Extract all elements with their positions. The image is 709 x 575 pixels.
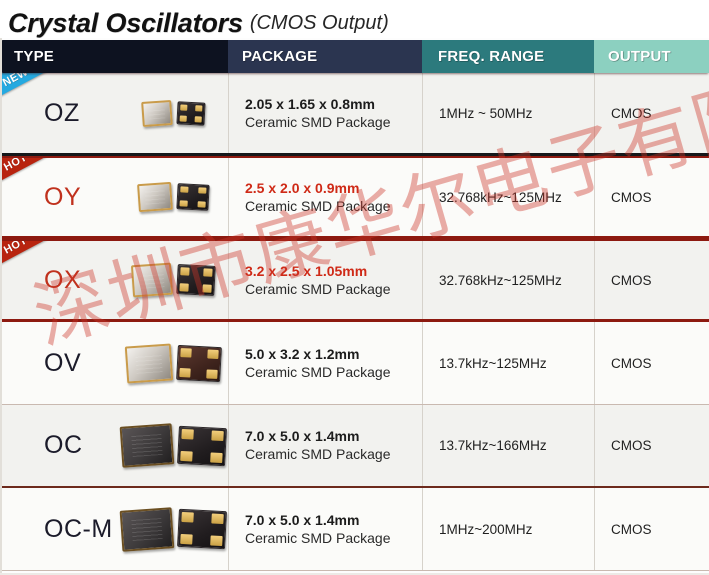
page-title: Crystal Oscillators (CMOS Output) xyxy=(0,0,709,38)
chip-photo-group xyxy=(132,264,215,296)
cell-type: OC xyxy=(0,405,118,486)
output-value: CMOS xyxy=(611,522,652,537)
frequency-range-value: 1MHz~200MHz xyxy=(439,522,532,537)
gold-pad-smd-chip xyxy=(176,101,205,125)
frequency-range-value: 32.768kHz~125MHz xyxy=(439,190,562,205)
gold-pad-smd-chip xyxy=(177,425,227,465)
cell-output: CMOS xyxy=(594,488,709,570)
cell-type: OC-M xyxy=(0,488,118,570)
cell-output: CMOS xyxy=(594,322,709,404)
cell-frequency-range: 1MHz~200MHz xyxy=(422,488,594,570)
type-label: OX xyxy=(44,266,81,295)
cell-product-image xyxy=(118,73,228,153)
package-description: Ceramic SMD Package xyxy=(245,445,391,464)
table-header-row: TYPE PACKAGE FREQ. RANGE OUTPUT xyxy=(0,40,709,73)
dark-lid-smd-chip xyxy=(119,423,174,468)
gold-pad-smd-chip xyxy=(176,264,216,296)
package-description: Ceramic SMD Package xyxy=(245,363,391,382)
gold-pad-smd-chip xyxy=(176,183,209,211)
table-row[interactable]: OV5.0 x 3.2 x 1.2mmCeramic SMD Package13… xyxy=(0,322,709,405)
page-title-main: Crystal Oscillators xyxy=(8,8,243,38)
package-dimensions: 2.5 x 2.0 x 0.9mm xyxy=(245,179,359,197)
type-label: OC-M xyxy=(44,515,113,544)
package-dimensions: 7.0 x 5.0 x 1.4mm xyxy=(245,427,359,445)
frequency-range-value: 32.768kHz~125MHz xyxy=(439,273,562,288)
catalog-page: Crystal Oscillators (CMOS Output) TYPE P… xyxy=(0,0,709,575)
chip-photo-group xyxy=(126,345,221,382)
package-description: Ceramic SMD Package xyxy=(245,197,391,216)
cell-frequency-range: 32.768kHz~125MHz xyxy=(422,158,594,236)
cell-package: 3.2 x 2.5 x 1.05mmCeramic SMD Package xyxy=(228,241,422,319)
column-header-freq: FREQ. RANGE xyxy=(422,40,594,73)
dark-lid-smd-chip xyxy=(119,507,174,552)
cell-type: OV xyxy=(0,322,118,404)
cell-package: 7.0 x 5.0 x 1.4mmCeramic SMD Package xyxy=(228,405,422,486)
column-header-output: OUTPUT xyxy=(594,40,709,73)
type-label: OY xyxy=(44,183,81,212)
page-title-subtitle: (CMOS Output) xyxy=(250,8,389,38)
frequency-range-value: 13.7kHz~166MHz xyxy=(439,438,547,453)
cell-frequency-range: 13.7kHz~166MHz xyxy=(422,405,594,486)
cell-package: 5.0 x 3.2 x 1.2mmCeramic SMD Package xyxy=(228,322,422,404)
cell-frequency-range: 32.768kHz~125MHz xyxy=(422,241,594,319)
output-value: CMOS xyxy=(611,190,652,205)
cell-output: CMOS xyxy=(594,158,709,236)
cell-package: 2.05 x 1.65 x 0.8mmCeramic SMD Package xyxy=(228,73,422,153)
cell-output: CMOS xyxy=(594,405,709,486)
frequency-range-value: 1MHz ~ 50MHz xyxy=(439,106,532,121)
package-dimensions: 2.05 x 1.65 x 0.8mm xyxy=(245,95,375,113)
table-body: NEWOZ2.05 x 1.65 x 0.8mmCeramic SMD Pack… xyxy=(0,73,709,571)
page-left-edge xyxy=(0,38,2,575)
cell-product-image xyxy=(118,241,228,319)
package-description: Ceramic SMD Package xyxy=(245,113,391,132)
cell-product-image xyxy=(118,158,228,236)
cell-output: CMOS xyxy=(594,73,709,153)
package-description: Ceramic SMD Package xyxy=(245,280,391,299)
cell-product-image xyxy=(118,405,228,486)
column-header-package: PACKAGE xyxy=(228,40,422,73)
cell-frequency-range: 1MHz ~ 50MHz xyxy=(422,73,594,153)
type-label: OV xyxy=(44,349,81,378)
table-row[interactable]: OC-M7.0 x 5.0 x 1.4mmCeramic SMD Package… xyxy=(0,488,709,571)
package-dimensions: 5.0 x 3.2 x 1.2mm xyxy=(245,345,359,363)
table-row[interactable]: OC7.0 x 5.0 x 1.4mmCeramic SMD Package13… xyxy=(0,405,709,488)
metal-lid-smd-chip xyxy=(141,99,173,126)
type-label: OC xyxy=(44,431,83,460)
package-dimensions: 7.0 x 5.0 x 1.4mm xyxy=(245,511,359,529)
metal-lid-smd-chip xyxy=(137,182,173,212)
cell-output: CMOS xyxy=(594,241,709,319)
chip-photo-group xyxy=(121,509,226,550)
cell-package: 2.5 x 2.0 x 0.9mmCeramic SMD Package xyxy=(228,158,422,236)
cell-product-image xyxy=(118,488,228,570)
package-description: Ceramic SMD Package xyxy=(245,529,391,548)
package-dimensions: 3.2 x 2.5 x 1.05mm xyxy=(245,262,367,280)
cell-package: 7.0 x 5.0 x 1.4mmCeramic SMD Package xyxy=(228,488,422,570)
chip-photo-group xyxy=(138,183,209,211)
gold-pad-smd-chip xyxy=(176,344,222,381)
cell-product-image xyxy=(118,322,228,404)
table-row[interactable]: HOTOY2.5 x 2.0 x 0.9mmCeramic SMD Packag… xyxy=(0,156,709,239)
output-value: CMOS xyxy=(611,438,652,453)
output-value: CMOS xyxy=(611,106,652,121)
metal-lid-smd-chip xyxy=(130,263,172,298)
type-label: OZ xyxy=(44,99,80,128)
metal-lid-smd-chip xyxy=(124,343,172,383)
chip-photo-group xyxy=(142,101,205,126)
chip-photo-group xyxy=(121,425,226,466)
output-value: CMOS xyxy=(611,356,652,371)
column-header-type: TYPE xyxy=(0,40,228,73)
table-row[interactable]: HOTOX3.2 x 2.5 x 1.05mmCeramic SMD Packa… xyxy=(0,239,709,322)
cell-type: OX xyxy=(0,241,118,319)
gold-pad-smd-chip xyxy=(177,509,227,549)
table-row[interactable]: NEWOZ2.05 x 1.65 x 0.8mmCeramic SMD Pack… xyxy=(0,73,709,156)
output-value: CMOS xyxy=(611,273,652,288)
cell-frequency-range: 13.7kHz~125MHz xyxy=(422,322,594,404)
cell-type: OY xyxy=(0,158,118,236)
cell-type: OZ xyxy=(0,73,118,153)
frequency-range-value: 13.7kHz~125MHz xyxy=(439,356,547,371)
